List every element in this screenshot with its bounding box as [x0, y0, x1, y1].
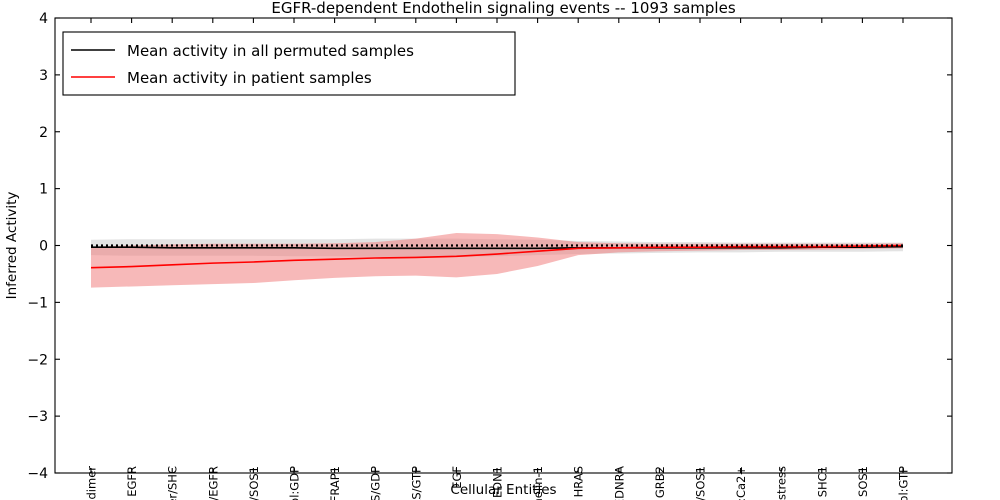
- x-tick-label: EGF/EGFR dimer/SHC: [166, 466, 180, 500]
- chart-legend[interactable]: Mean activity in all permuted samplesMea…: [63, 32, 515, 95]
- x-tick-label: EDNRA: [612, 466, 626, 500]
- x-tick-label: EGF/EGFR: [206, 466, 220, 500]
- x-tick-label: GRB2/SOS1: [694, 466, 708, 500]
- chart-figure: −4−3−2−101234EGF/EGFR dimerEGFREGF/EGFR …: [0, 0, 1000, 500]
- x-tick-label: EGFR: [125, 466, 139, 497]
- x-tick-label: FRAP1: [328, 466, 342, 500]
- y-tick-label: 2: [39, 125, 48, 141]
- chart-canvas: −4−3−2−101234EGF/EGFR dimerEGFREGF/EGFR …: [0, 0, 1000, 500]
- x-tick-label: SHC1: [815, 466, 829, 497]
- x-tick-label: HRAS/GTP: [409, 466, 423, 500]
- y-axis-title: Inferred Activity: [4, 192, 20, 300]
- y-tick-label: 1: [39, 182, 48, 198]
- x-tick-label: HRAS: [572, 466, 586, 497]
- x-tick-label: mol:Ca2+: [734, 466, 748, 500]
- x-tick-label: mol:GTP: [897, 466, 911, 500]
- chart-title: EGFR-dependent Endothelin signaling even…: [271, 0, 735, 17]
- x-tick-label: EGF/EGFR dimer: [85, 466, 99, 500]
- y-tick-label: −2: [27, 352, 48, 368]
- y-tick-label: 4: [39, 11, 48, 27]
- legend-label-1: Mean activity in patient samples: [127, 69, 372, 87]
- y-tick-label: 0: [39, 239, 48, 255]
- y-tick-label: −1: [27, 295, 48, 311]
- x-tick-label: EGF/EGFR dimer/SHC/GRB2/SOS1: [247, 466, 261, 500]
- x-tick-label: SOS1: [856, 466, 870, 497]
- x-tick-label: HRAS/GDP: [369, 466, 383, 500]
- y-tick-label: 3: [39, 68, 48, 84]
- x-axis-title: Cellular Entities: [450, 482, 556, 498]
- x-tick-label: mol:GDP: [288, 466, 302, 500]
- x-tick-label: response to oxidative stress: [775, 466, 789, 500]
- y-tick-label: −3: [27, 409, 48, 425]
- y-tick-label: −4: [27, 466, 48, 482]
- x-tick-label: GRB2: [653, 466, 667, 498]
- legend-label-0: Mean activity in all permuted samples: [127, 42, 414, 60]
